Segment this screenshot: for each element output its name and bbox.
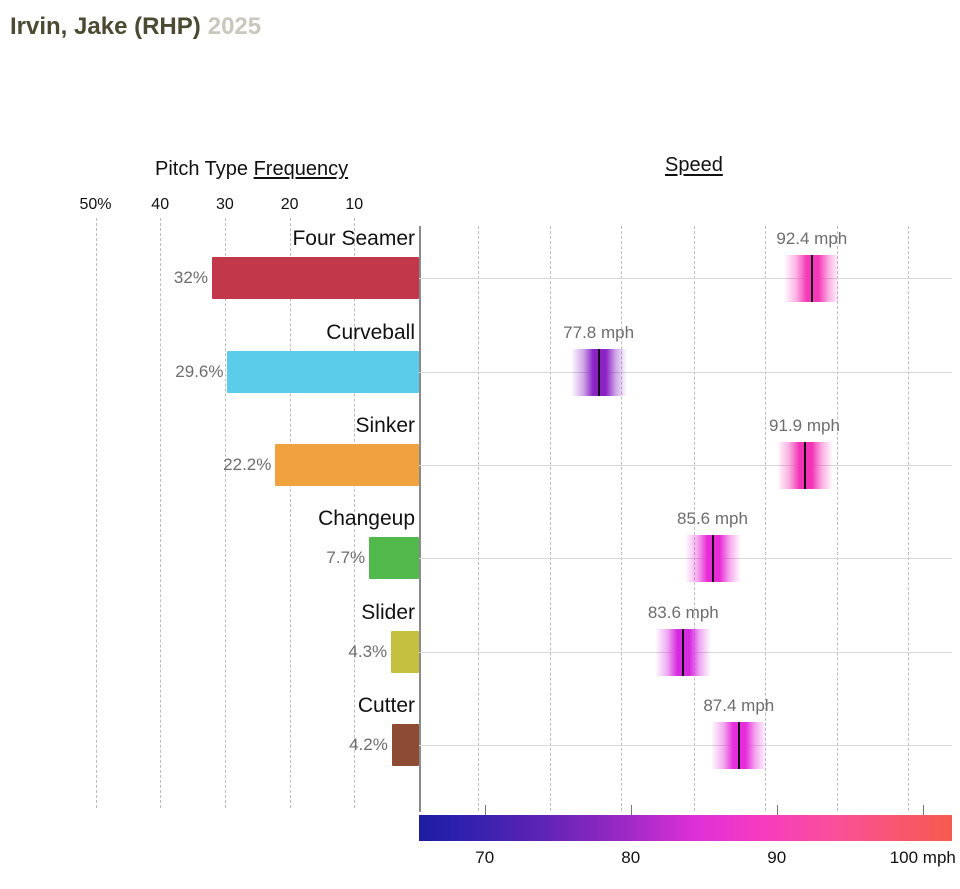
frequency-value-label: 32%: [174, 268, 208, 288]
frequency-gridline: [290, 218, 291, 808]
speed-gridline: [621, 226, 622, 811]
frequency-tick-label: 30: [216, 196, 234, 214]
legend-tick: [485, 805, 486, 815]
frequency-value-label: 22.2%: [223, 455, 271, 475]
frequency-bar[interactable]: [391, 631, 419, 673]
pitch-type-label: Four Seamer: [292, 227, 415, 251]
legend-tick-label: 90: [767, 848, 786, 868]
speed-gridline: [837, 226, 838, 811]
speed-distribution-marker[interactable]: [784, 255, 840, 302]
frequency-tick-label: 50%: [79, 196, 111, 214]
speed-median-tick: [804, 442, 806, 489]
frequency-gridline: [96, 218, 97, 808]
frequency-value-label: 7.7%: [326, 548, 365, 568]
speed-value-label: 92.4 mph: [776, 229, 847, 249]
speed-distribution-marker[interactable]: [571, 349, 627, 396]
pitch-type-label: Curveball: [326, 321, 415, 345]
pitch-type-label: Cutter: [358, 694, 415, 718]
speed-baseline: [419, 465, 952, 466]
speed-median-tick: [811, 255, 813, 302]
frequency-bar[interactable]: [275, 444, 419, 486]
frequency-bar[interactable]: [212, 257, 419, 299]
page-title: Irvin, Jake (RHP)2025: [10, 13, 261, 41]
frequency-value-label: 4.3%: [348, 642, 387, 662]
speed-median-tick: [682, 629, 684, 676]
speed-value-label: 85.6 mph: [677, 509, 748, 529]
speed-baseline: [419, 372, 952, 373]
speed-color-legend: [419, 815, 952, 841]
speed-median-tick: [738, 722, 740, 769]
speed-distribution-marker[interactable]: [711, 722, 767, 769]
frequency-gridline: [160, 218, 161, 808]
frequency-bar[interactable]: [392, 724, 419, 766]
pitch-type-label: Changeup: [318, 507, 415, 531]
speed-panel-heading[interactable]: Speed: [665, 154, 723, 177]
speed-baseline: [419, 745, 952, 746]
speed-value-label: 87.4 mph: [703, 696, 774, 716]
legend-tick-label: 70: [475, 848, 494, 868]
speed-gridline: [550, 226, 551, 811]
legend-tick: [923, 805, 924, 815]
frequency-panel-heading: Pitch Type Frequency: [155, 158, 348, 181]
legend-tick-label: 100 mph: [890, 848, 956, 868]
legend-tick: [631, 805, 632, 815]
frequency-value-label: 29.6%: [175, 362, 223, 382]
player-name: Irvin, Jake (RHP): [10, 13, 201, 40]
legend-tick: [777, 805, 778, 815]
speed-value-label: 83.6 mph: [648, 603, 719, 623]
legend-tick-label: 80: [621, 848, 640, 868]
speed-distribution-marker[interactable]: [655, 629, 711, 676]
frequency-tick-label: 10: [345, 196, 363, 214]
pitch-type-label: Slider: [361, 601, 415, 625]
speed-median-tick: [712, 535, 714, 582]
speed-distribution-marker[interactable]: [777, 442, 833, 489]
speed-median-tick: [598, 349, 600, 396]
speed-baseline: [419, 278, 952, 279]
frequency-bar[interactable]: [369, 537, 419, 579]
speed-value-label: 91.9 mph: [769, 416, 840, 436]
frequency-bar[interactable]: [227, 351, 419, 393]
frequency-value-label: 4.2%: [349, 735, 388, 755]
speed-gridline: [478, 226, 479, 811]
frequency-tick-label: 40: [151, 196, 169, 214]
speed-value-label: 77.8 mph: [563, 323, 634, 343]
season-year: 2025: [208, 13, 261, 40]
frequency-tick-label: 20: [281, 196, 299, 214]
pitch-type-label: Sinker: [355, 414, 415, 438]
center-axis-line: [419, 226, 421, 812]
frequency-gridline: [225, 218, 226, 808]
frequency-heading-link[interactable]: Frequency: [254, 158, 349, 180]
frequency-heading-prefix: Pitch Type: [155, 158, 254, 180]
speed-gridline: [908, 226, 909, 811]
speed-distribution-marker[interactable]: [685, 535, 741, 582]
